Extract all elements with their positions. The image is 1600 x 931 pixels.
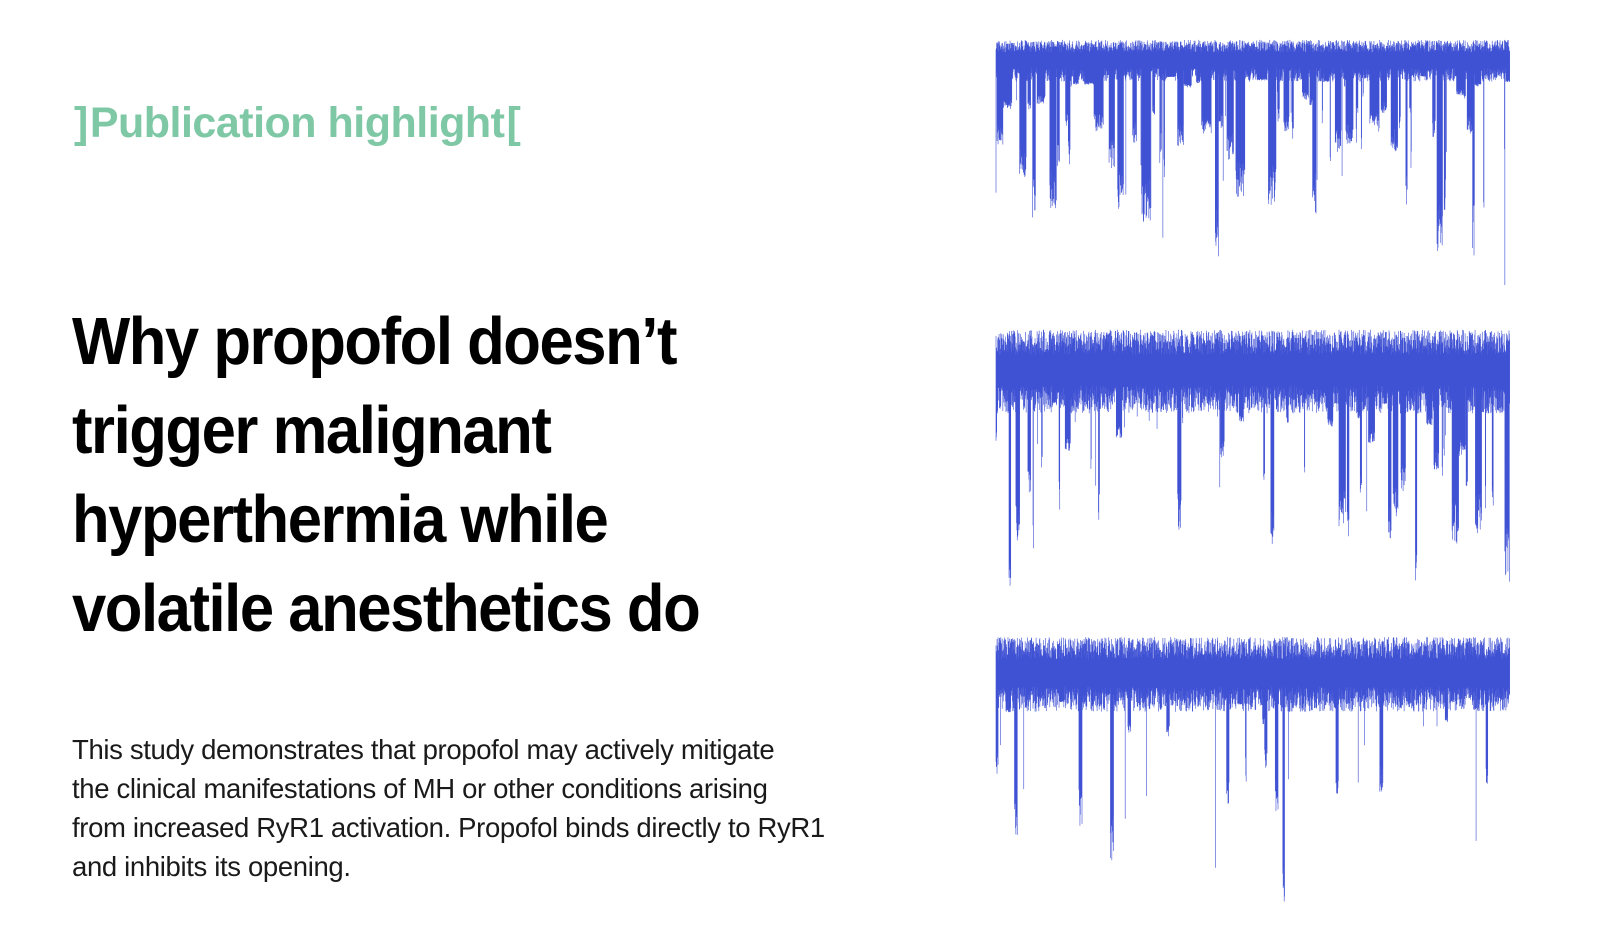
eyebrow-bracket-right: [ <box>505 100 523 147</box>
trace-waveform <box>996 40 1510 285</box>
trace-2-plot <box>996 330 1510 580</box>
eyebrow-text: Publication highlight <box>90 99 505 147</box>
text-column: ]Publication highlight[ Why propofol doe… <box>72 0 952 931</box>
headline-line-4: volatile anesthetics do <box>72 564 854 653</box>
summary-paragraph: This study demonstrates that propofol ma… <box>72 730 952 886</box>
trace-waveform <box>996 637 1510 901</box>
eyebrow-label: ]Publication highlight[ <box>72 100 522 147</box>
summary-line-2: the clinical manifestations of MH or oth… <box>72 769 952 808</box>
trace-1-plot <box>996 34 1510 284</box>
trace-3-plot <box>996 636 1510 904</box>
channel-trace-3 <box>996 636 1510 904</box>
page-title: Why propofol doesn’t trigger malignant h… <box>72 297 854 653</box>
headline-line-1: Why propofol doesn’t <box>72 297 854 386</box>
summary-line-1: This study demonstrates that propofol ma… <box>72 730 952 769</box>
summary-line-3: from increased RyR1 activation. Propofol… <box>72 808 952 847</box>
trace-waveform <box>996 330 1510 586</box>
headline-line-2: trigger malignant <box>72 386 854 475</box>
eyebrow-bracket-left: ] <box>72 100 90 147</box>
channel-trace-2 <box>996 330 1510 580</box>
channel-trace-1 <box>996 34 1510 284</box>
figure-panel <box>960 0 1560 931</box>
summary-line-4: and inhibits its opening. <box>72 847 952 886</box>
headline-line-3: hyperthermia while <box>72 475 854 564</box>
slide-canvas: ]Publication highlight[ Why propofol doe… <box>0 0 1600 931</box>
